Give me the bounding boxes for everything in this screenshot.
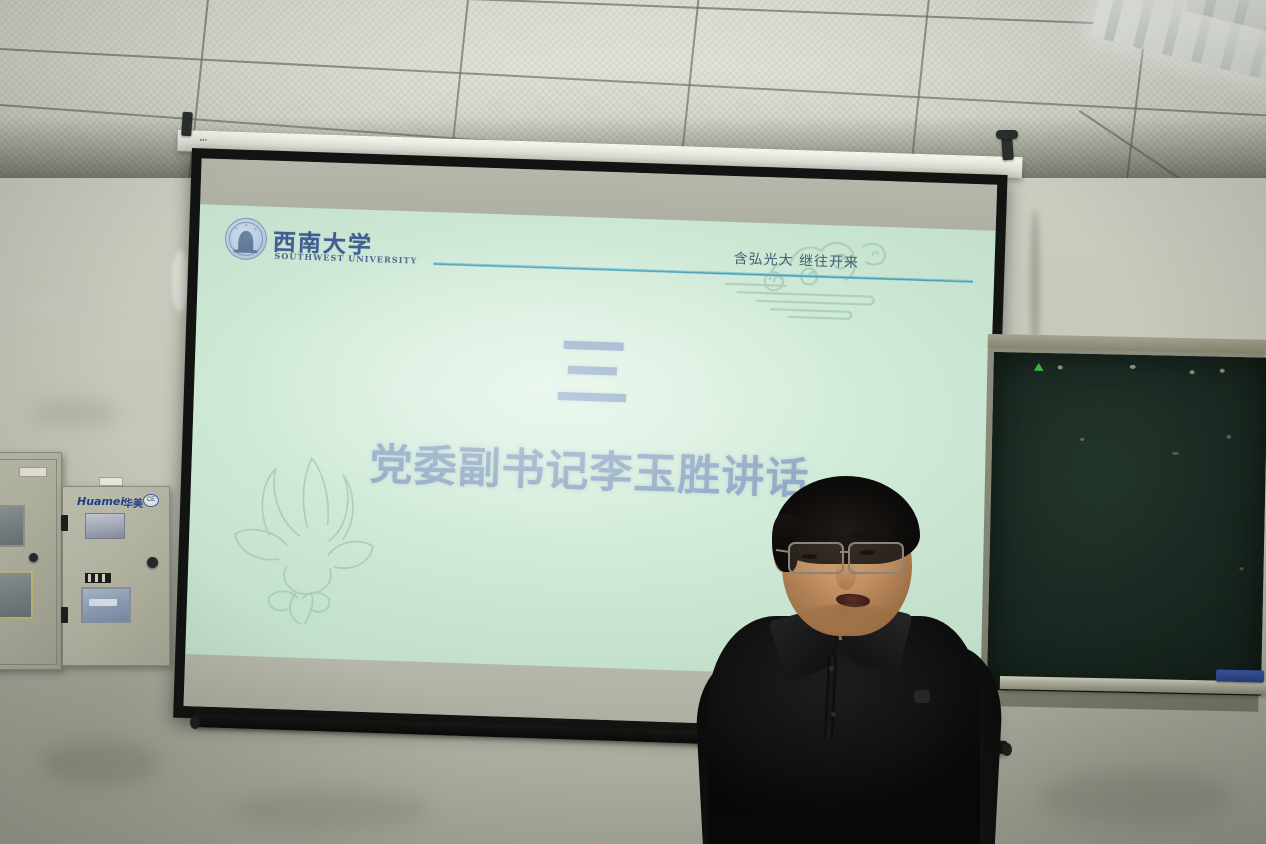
panel-lock-knob[interactable] xyxy=(29,553,38,562)
university-motto: 含弘光大 继往开来 xyxy=(733,248,859,272)
wall-smudge xyxy=(230,790,430,830)
chalk-mark xyxy=(1239,567,1243,570)
shirt-logo-icon xyxy=(914,690,930,703)
university-emblem-icon xyxy=(224,217,267,260)
screen-bar-end-cap xyxy=(190,716,200,729)
panel-hinge xyxy=(61,607,68,623)
panel-lock-knob[interactable] xyxy=(147,557,158,568)
casing-label: ▪▪▪ xyxy=(200,138,208,144)
screen-mount-bracket xyxy=(181,112,193,137)
shirt-button xyxy=(829,666,834,671)
speaker-person xyxy=(690,470,1000,844)
chalk-mark xyxy=(1226,435,1231,439)
section-number: 三 xyxy=(194,322,992,424)
screen-mount-bracket xyxy=(996,130,1018,139)
screen-mount-bracket xyxy=(1001,138,1014,161)
chalk-mark xyxy=(1058,365,1063,369)
glasses-bridge xyxy=(840,551,850,553)
lens-right xyxy=(848,542,904,574)
university-name-en: SOUTHWEST UNIVERSITY xyxy=(274,251,417,266)
panel-door xyxy=(0,459,57,665)
blackboard-eraser xyxy=(1216,669,1264,682)
nose xyxy=(836,560,856,590)
chalk-mark xyxy=(1172,452,1179,455)
wall-smudge xyxy=(1040,770,1230,824)
wall-scuff xyxy=(30,400,120,426)
header-divider xyxy=(433,262,973,283)
panel-hinge xyxy=(61,515,68,531)
wall-smudge xyxy=(40,740,160,786)
panel-id-tag xyxy=(99,477,123,486)
panel-dip-switches[interactable] xyxy=(85,573,111,583)
panel-meter-window xyxy=(85,513,125,539)
chin-shading xyxy=(794,604,898,630)
panel-brand-label: Huamei xyxy=(77,495,124,508)
ce-badge: CE xyxy=(143,494,159,507)
panel-window xyxy=(0,505,25,547)
magnolia-flower-icon xyxy=(210,445,437,652)
screen-bar-end-cap xyxy=(1002,743,1012,756)
panel-brand-label-cn: 华美 xyxy=(123,495,143,510)
electrical-panel-left xyxy=(0,452,62,670)
panel-id-tag xyxy=(19,467,47,477)
eye-right xyxy=(860,550,875,555)
classroom-photo: ▪▪▪ xyxy=(0,0,1266,844)
chalk-mark xyxy=(1220,369,1225,373)
chalkboard xyxy=(987,352,1266,696)
electrical-panel-right: Huamei 华美 CE xyxy=(62,486,170,666)
shirt-button xyxy=(831,712,836,717)
panel-window xyxy=(0,571,33,619)
eye-left xyxy=(802,554,817,559)
chalk-mark xyxy=(1080,438,1084,441)
wall-scuff xyxy=(20,300,76,318)
chalk-mark xyxy=(1130,365,1136,369)
chalk-mark xyxy=(1190,370,1195,374)
polo-shirt xyxy=(708,616,980,844)
wall-tape-residue xyxy=(172,250,188,312)
